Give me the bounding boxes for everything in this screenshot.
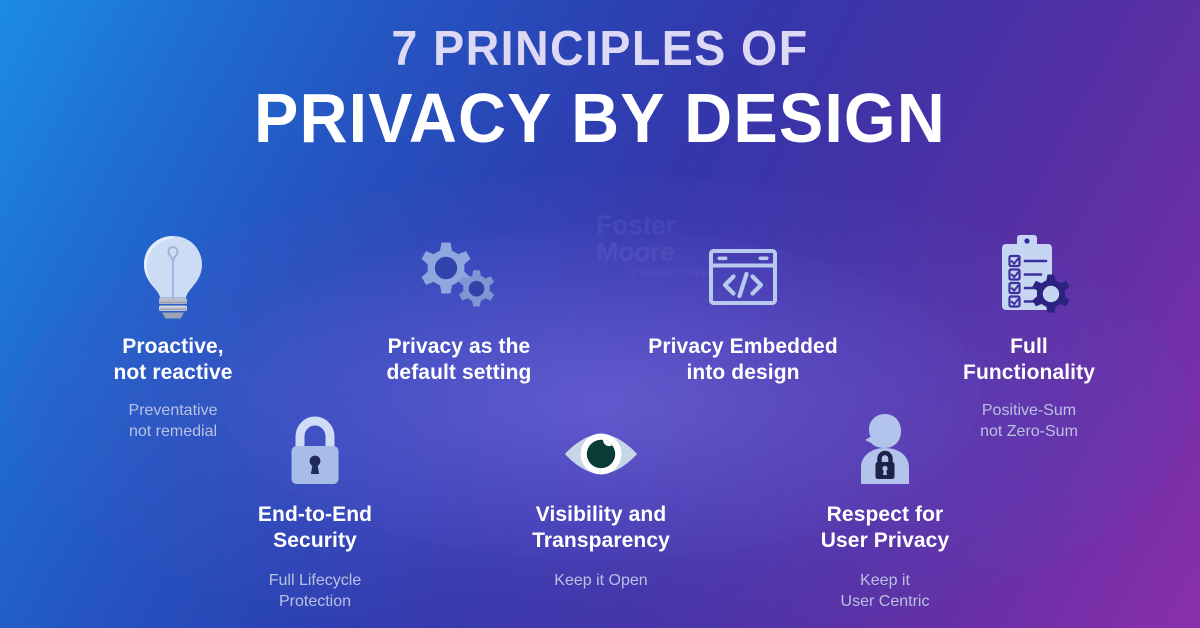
principle-subtitle: Keep it Open (490, 571, 712, 592)
principle-title: End-to-End Security (204, 502, 426, 553)
eye-icon (490, 396, 712, 488)
principle-visibility-transparency: Visibility and Transparency Keep it Open (490, 396, 712, 592)
principle-title: Visibility and Transparency (490, 502, 712, 553)
principle-title: Proactive, not reactive (62, 334, 284, 385)
title-line-2: PRIVACY BY DESIGN (30, 79, 1170, 157)
person-lock-icon (774, 396, 996, 488)
principle-subtitle: Keep it User Centric (774, 571, 996, 613)
principle-embedded-into-design: Privacy Embedded into design (632, 228, 854, 401)
principle-title: Privacy Embedded into design (632, 334, 854, 385)
gears-icon (348, 228, 570, 320)
clipboard-gear-icon (918, 228, 1140, 320)
lightbulb-icon (62, 228, 284, 320)
privacy-by-design-infographic: Foster Moore a Teranet Company 7 PRINCIP… (0, 0, 1200, 628)
page-title: 7 PRINCIPLES OF PRIVACY BY DESIGN (0, 24, 1200, 158)
title-line-1: 7 PRINCIPLES OF (30, 24, 1170, 75)
principle-title: Privacy as the default setting (348, 334, 570, 385)
principle-default-setting: Privacy as the default setting (348, 228, 570, 401)
principle-subtitle: Full Lifecycle Protection (204, 571, 426, 613)
code-window-icon (632, 228, 854, 320)
principle-title: Full Functionality (918, 334, 1140, 385)
principle-title: Respect for User Privacy (774, 502, 996, 553)
principle-respect-user-privacy: Respect for User Privacy Keep it User Ce… (774, 396, 996, 613)
padlock-icon (204, 396, 426, 488)
principle-end-to-end-security: End-to-End Security Full Lifecycle Prote… (204, 396, 426, 613)
